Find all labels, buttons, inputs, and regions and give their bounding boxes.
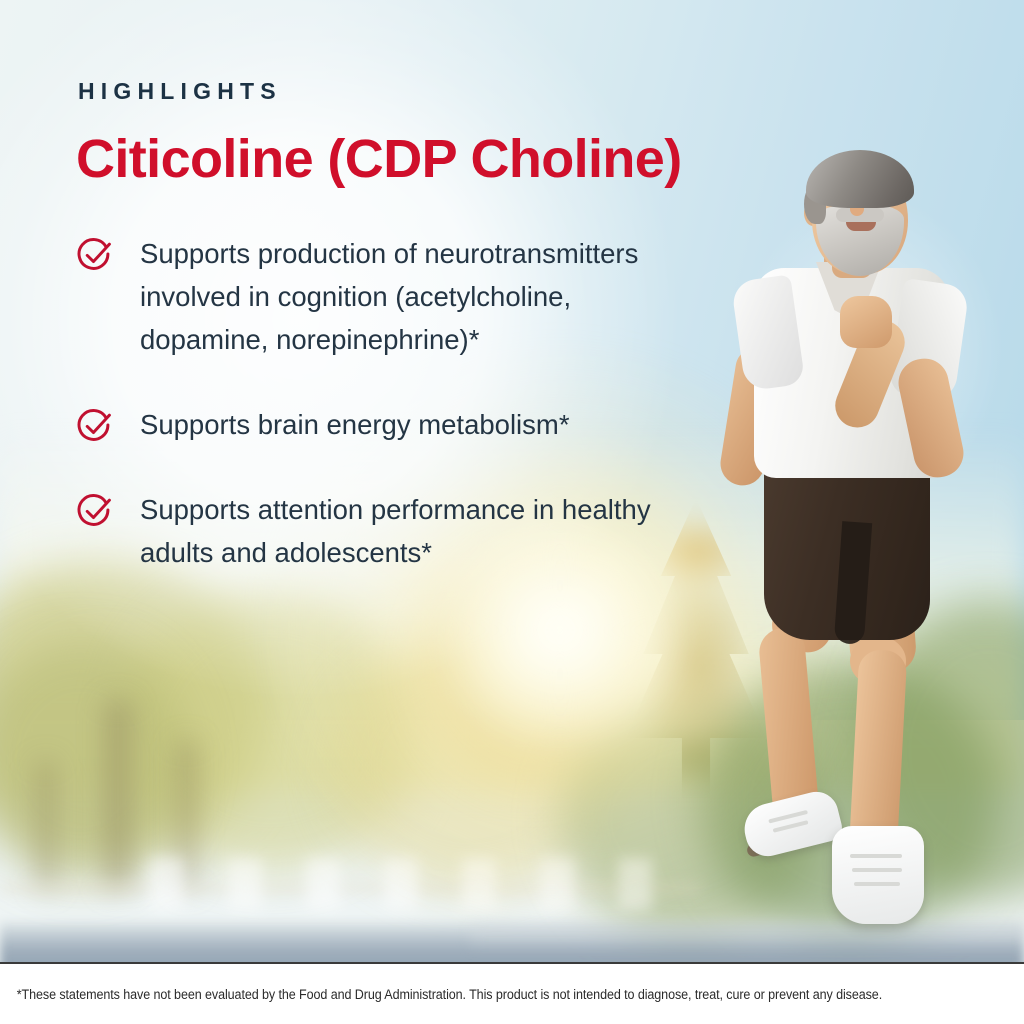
list-item-text: Supports production of neurotransmitters… bbox=[140, 232, 696, 361]
content-layer: HIGHLIGHTS Citicoline (CDP Choline) Supp… bbox=[0, 0, 1024, 1024]
list-item: Supports brain energy metabolism* bbox=[76, 403, 696, 446]
page-title: Citicoline (CDP Choline) bbox=[76, 128, 682, 190]
fda-disclaimer-text: *These statements have not been evaluate… bbox=[0, 987, 952, 1002]
list-item: Supports production of neurotransmitters… bbox=[76, 232, 696, 361]
promo-graphic: HIGHLIGHTS Citicoline (CDP Choline) Supp… bbox=[0, 0, 1024, 1024]
fda-disclaimer-bar: *These statements have not been evaluate… bbox=[0, 962, 1024, 1024]
list-item: Supports attention performance in health… bbox=[76, 488, 696, 574]
circle-check-icon bbox=[76, 407, 114, 445]
circle-check-icon bbox=[76, 492, 114, 530]
circle-check-icon bbox=[76, 236, 114, 274]
list-item-text: Supports brain energy metabolism* bbox=[140, 403, 570, 446]
highlights-list: Supports production of neurotransmitters… bbox=[76, 232, 696, 574]
kicker-label: HIGHLIGHTS bbox=[78, 78, 282, 105]
list-item-text: Supports attention performance in health… bbox=[140, 488, 696, 574]
